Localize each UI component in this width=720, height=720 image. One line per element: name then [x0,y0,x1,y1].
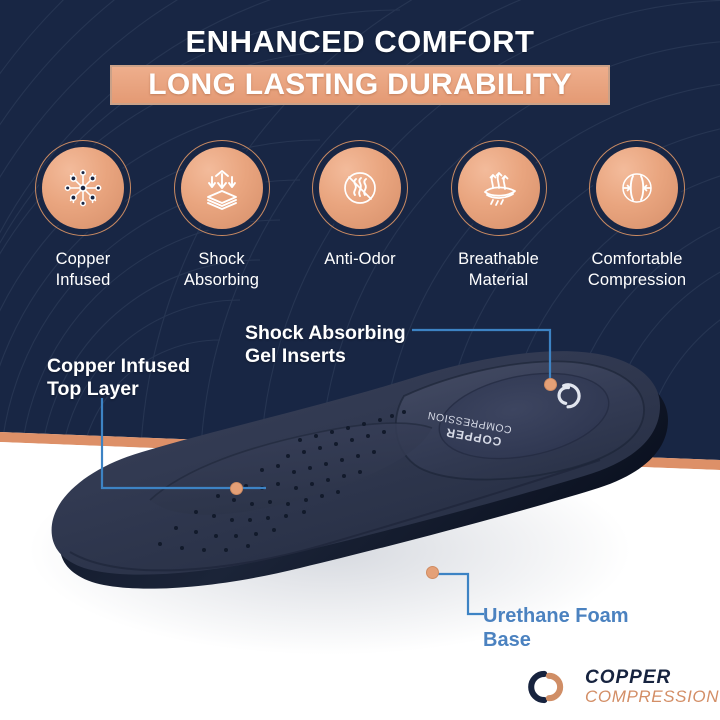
badge-disc [42,147,124,229]
feature-label-line2: Infused [56,270,111,291]
brand-name-top: COPPER [585,668,719,687]
no-odor-icon [336,164,384,212]
callout-line1: Shock Absorbing [245,322,406,345]
compression-icon [613,164,661,212]
callout-line1: Urethane Foam [483,604,629,628]
headline-secondary-banner: LONG LASTING DURABILITY [110,65,610,105]
feature-label: Comfortable Compression [588,249,686,291]
feature-item-shock-absorbing: Shock Absorbing [157,140,287,291]
feature-item-compression: Comfortable Compression [572,140,702,291]
shock-layers-icon [198,164,246,212]
callout-dot-copper-infused [230,482,243,495]
feature-badge [312,140,408,236]
callout-dot-shock-absorbing [544,378,557,391]
copper-molecule-icon [60,165,106,211]
callout-line2: Base [483,628,629,652]
badge-disc [458,147,540,229]
badge-disc [181,147,263,229]
callout-line1: Copper Infused [47,355,190,378]
feature-label: Shock Absorbing [184,249,259,291]
callout-line2: Gel Inserts [245,345,406,368]
feature-badge [589,140,685,236]
badge-disc [319,147,401,229]
feature-list: Copper Infused [18,140,702,291]
headline-primary: ENHANCED COMFORT [0,24,720,60]
badge-disc [596,147,678,229]
brand-wordmark: COPPER COMPRESSION [585,668,719,705]
infographic-canvas: ENHANCED COMFORT LONG LASTING DURABILITY [0,0,720,720]
feature-item-breathable: Breathable Material [434,140,564,291]
brand-logo: COPPER COMPRESSION [520,668,719,705]
leader-line-urethane-foam [432,572,492,624]
feature-label: Anti-Odor [324,249,396,270]
callout-copper-infused-top-layer: Copper Infused Top Layer [47,355,190,402]
feature-label-line1: Shock [184,249,259,270]
feature-badge [174,140,270,236]
feature-badge [35,140,131,236]
feature-badge [451,140,547,236]
callout-dot-urethane-foam [426,566,439,579]
feature-label-line1: Copper [56,249,111,270]
feature-label: Copper Infused [56,249,111,291]
feature-label-line1: Comfortable [588,249,686,270]
feature-label: Breathable Material [458,249,539,291]
feature-label-line1: Anti-Odor [324,249,396,270]
headline-secondary-text: LONG LASTING DURABILITY [148,68,572,102]
feature-item-copper-infused: Copper Infused [18,140,148,291]
breathable-icon [475,164,523,212]
feature-label-line2: Material [458,270,539,291]
callout-shock-absorbing-gel: Shock Absorbing Gel Inserts [245,322,406,369]
brand-name-bottom: COMPRESSION [585,688,719,705]
feature-label-line2: Compression [588,270,686,291]
feature-label-line2: Absorbing [184,270,259,291]
feature-item-anti-odor: Anti-Odor [295,140,425,291]
callout-urethane-foam-base: Urethane Foam Base [483,604,629,652]
copper-compression-logo-mark [520,669,576,705]
feature-label-line1: Breathable [458,249,539,270]
